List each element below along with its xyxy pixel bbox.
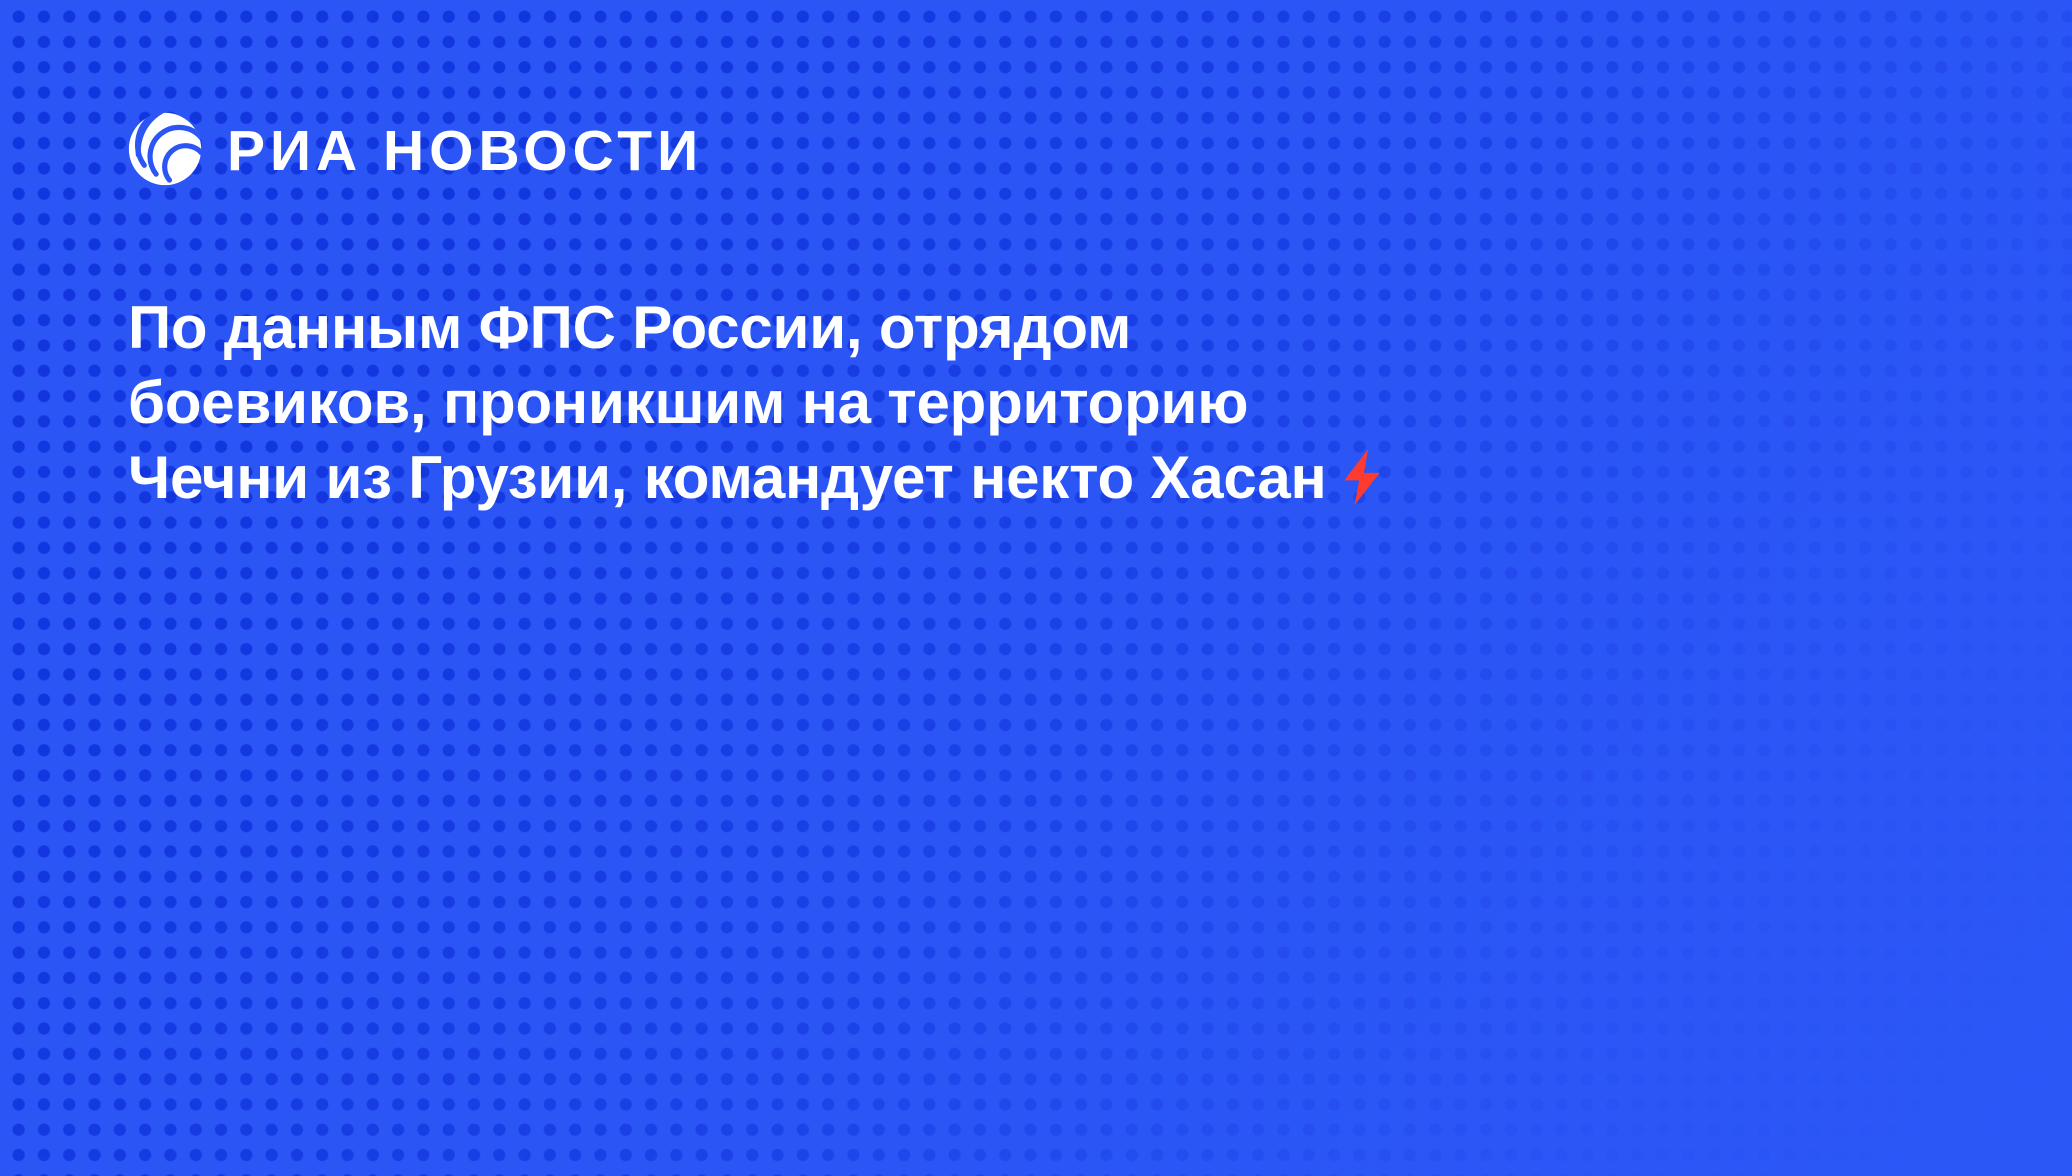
brand-name: РИА НОВОСТИ [227, 123, 703, 180]
lightning-bolt-icon [1339, 447, 1385, 507]
ria-novosti-logo[interactable]: РИА НОВОСТИ [128, 112, 703, 186]
headline: По данным ФПС России, отрядом боевиков, … [128, 290, 1928, 515]
headline-line-1: По данным ФПС России, отрядом [128, 290, 1928, 365]
headline-line-2: боевиков, проникшим на территорию [128, 365, 1928, 440]
ria-globe-icon [128, 112, 202, 186]
headline-line-3: Чечни из Грузии, командует некто Хасан [128, 444, 1327, 511]
social-share-card: РИА НОВОСТИ По данным ФПС России, отрядо… [0, 0, 2072, 1176]
headline-line-3-wrap: Чечни из Грузии, командует некто Хасан [128, 440, 1928, 515]
